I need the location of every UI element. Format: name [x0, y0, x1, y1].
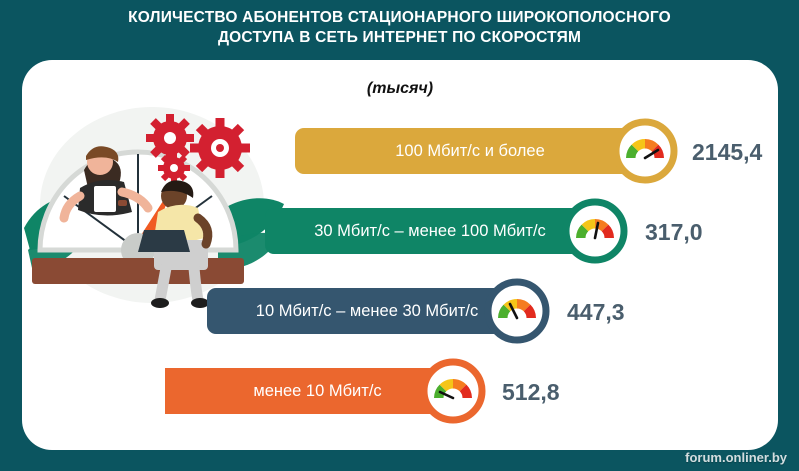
page-title-line-1: КОЛИЧЕСТВО АБОНЕНТОВ СТАЦИОНАРНОГО ШИРОК… — [0, 8, 799, 28]
infographic-card: (тысяч) — [22, 60, 778, 450]
bar-label: 30 Мбит/с – менее 100 Мбит/с — [265, 222, 595, 241]
chart-row: 10 Мбит/с – менее 30 Мбит/с 447,3 — [207, 288, 687, 334]
chart-row: 30 Мбит/с – менее 100 Мбит/с 317,0 — [265, 208, 735, 254]
speedometer-icon — [562, 198, 628, 264]
bar-10-to-30[interactable]: 10 Мбит/с – менее 30 Мбит/с — [207, 288, 527, 334]
bar-value: 317,0 — [645, 219, 703, 246]
chart-row: 100 Мбит/с и более 2145,4 — [295, 128, 765, 174]
bar-100-and-more[interactable]: 100 Мбит/с и более — [295, 128, 645, 174]
bar-label: 10 Мбит/с – менее 30 Мбит/с — [207, 302, 527, 321]
bar-value: 512,8 — [502, 379, 560, 406]
bar-value: 447,3 — [567, 299, 625, 326]
chart-row: менее 10 Мбит/с 512,8 — [165, 368, 635, 414]
speedometer-icon — [612, 118, 678, 184]
page-title: КОЛИЧЕСТВО АБОНЕНТОВ СТАЦИОНАРНОГО ШИРОК… — [0, 8, 799, 48]
watermark: forum.onliner.by — [685, 450, 787, 465]
bar-value: 2145,4 — [692, 139, 762, 166]
speed-bars-chart: 100 Мбит/с и более 2145,4 30 Мб — [22, 60, 778, 450]
page-title-line-2: ДОСТУПА В СЕТЬ ИНТЕРНЕТ ПО СКОРОСТЯМ — [0, 28, 799, 48]
speedometer-icon — [484, 278, 550, 344]
bar-30-to-100[interactable]: 30 Мбит/с – менее 100 Мбит/с — [265, 208, 595, 254]
bar-label: 100 Мбит/с и более — [295, 142, 645, 161]
speedometer-icon — [420, 358, 486, 424]
